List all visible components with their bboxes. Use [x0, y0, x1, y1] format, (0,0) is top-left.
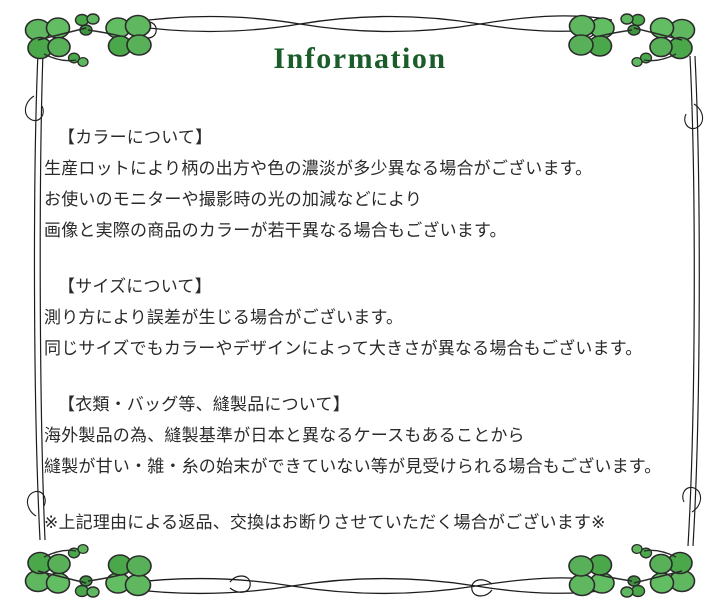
information-notice-page: Information 【カラーについて】 生産ロットにより柄の出方や色の濃淡が… — [0, 0, 720, 611]
notice-content: 【カラーについて】 生産ロットにより柄の出方や色の濃淡が多少異なる場合がございま… — [44, 122, 684, 538]
page-title: Information — [0, 42, 720, 76]
notice-line: お使いのモニターや撮影時の光の加減などにより — [44, 184, 684, 215]
notice-block-sewn-goods: 【衣類・バッグ等、縫製品について】 海外製品の為、縫製基準が日本と異なるケースも… — [44, 389, 684, 482]
notice-line: 同じサイズでもカラーやデザインによって大きさが異なる場合もございます。 — [44, 333, 684, 364]
notice-heading: 【衣類・バッグ等、縫製品について】 — [44, 389, 684, 420]
notice-footnote: ※上記理由による返品、交換はお断りさせていただく場合がございます※ — [44, 507, 684, 538]
notice-heading: 【カラーについて】 — [44, 122, 684, 153]
notice-line: 縫製が甘い・雑・糸の始末ができていない等が見受けられる場合もございます。 — [44, 451, 684, 482]
notice-line: 海外製品の為、縫製基準が日本と異なるケースもあることから — [44, 420, 684, 451]
corner-decoration-bottom-right — [569, 545, 695, 597]
notice-line: 生産ロットにより柄の出方や色の濃淡が多少異なる場合がございます。 — [44, 153, 684, 184]
top-border — [120, 16, 612, 38]
left-border — [25, 52, 45, 540]
notice-heading: 【サイズについて】 — [44, 271, 684, 302]
notice-line: 測り方により誤差が生じる場合がございます。 — [44, 302, 684, 333]
right-border — [683, 56, 703, 546]
notice-block-size: 【サイズについて】 測り方により誤差が生じる場合がございます。 同じサイズでもカ… — [44, 271, 684, 364]
notice-block-color: 【カラーについて】 生産ロットにより柄の出方や色の濃淡が多少異なる場合がございま… — [44, 122, 684, 246]
corner-decoration-bottom-left — [26, 545, 152, 597]
notice-line: 画像と実際の商品のカラーが若干異なる場合もございます。 — [44, 215, 684, 246]
bottom-border — [108, 576, 608, 596]
